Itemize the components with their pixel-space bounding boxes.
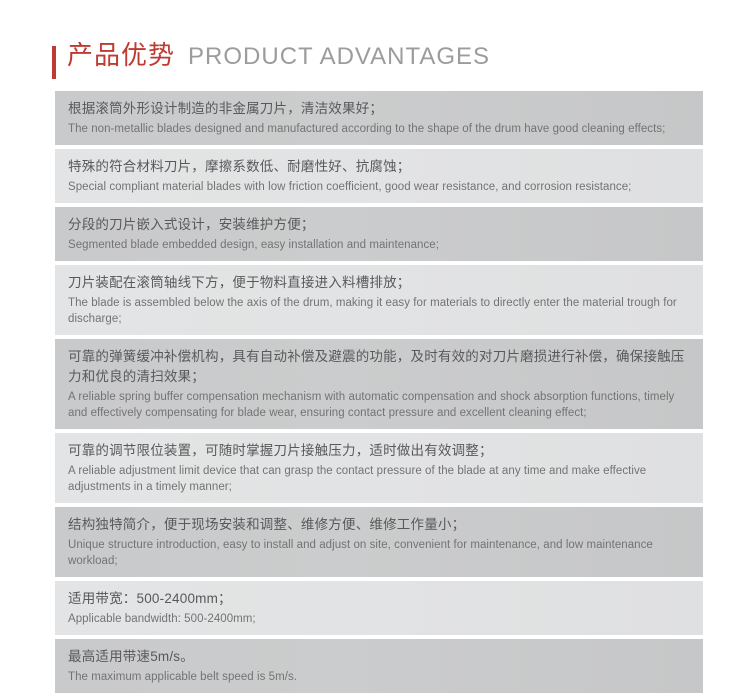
advantage-text-english: A reliable spring buffer compensation me… (68, 389, 689, 421)
advantage-row: 可靠的调节限位装置，可随时掌握刀片接触压力，适时做出有效调整；A reliabl… (55, 433, 703, 503)
page-title-chinese: 产品优势 (67, 40, 175, 70)
advantage-row: 可靠的弹簧缓冲补偿机构，具有自动补偿及避震的功能，及时有效的对刀片磨损进行补偿，… (55, 339, 703, 429)
advantage-row: 分段的刀片嵌入式设计，安装维护方便；Segmented blade embedd… (55, 207, 703, 261)
advantage-row: 特殊的符合材料刀片，摩擦系数低、耐磨性好、抗腐蚀；Special complia… (55, 149, 703, 203)
advantage-text-english: Segmented blade embedded design, easy in… (68, 237, 689, 253)
advantage-text-chinese: 结构独特简介，便于现场安装和调整、维修方便、维修工作量小； (68, 515, 689, 535)
advantage-text-chinese: 根据滚筒外形设计制造的非金属刀片，清洁效果好； (68, 99, 689, 119)
advantage-row: 刀片装配在滚筒轴线下方，便于物料直接进入料槽排放；The blade is as… (55, 265, 703, 335)
page-header: 产品优势 PRODUCT ADVANTAGES (52, 40, 490, 82)
advantage-text-english: Unique structure introduction, easy to i… (68, 537, 689, 569)
advantage-text-chinese: 特殊的符合材料刀片，摩擦系数低、耐磨性好、抗腐蚀； (68, 157, 689, 177)
advantages-list: 根据滚筒外形设计制造的非金属刀片，清洁效果好；The non-metallic … (55, 91, 703, 697)
advantage-text-chinese: 最高适用带速5m/s。 (68, 647, 689, 667)
page-title-english: PRODUCT ADVANTAGES (188, 43, 490, 71)
advantage-row: 适用带宽：500-2400mm；Applicable bandwidth: 50… (55, 581, 703, 635)
advantage-text-english: The maximum applicable belt speed is 5m/… (68, 669, 689, 685)
product-advantages-page: 产品优势 PRODUCT ADVANTAGES 根据滚筒外形设计制造的非金属刀片… (0, 0, 737, 566)
advantage-text-chinese: 刀片装配在滚筒轴线下方，便于物料直接进入料槽排放； (68, 273, 689, 293)
advantage-text-english: A reliable adjustment limit device that … (68, 463, 689, 495)
advantage-row: 结构独特简介，便于现场安装和调整、维修方便、维修工作量小；Unique stru… (55, 507, 703, 577)
advantage-text-chinese: 可靠的调节限位装置，可随时掌握刀片接触压力，适时做出有效调整； (68, 441, 689, 461)
advantage-text-chinese: 适用带宽：500-2400mm； (68, 589, 689, 609)
advantage-text-english: The blade is assembled below the axis of… (68, 295, 689, 327)
advantage-text-english: Applicable bandwidth: 500-2400mm; (68, 611, 689, 627)
red-accent-bar-icon (52, 46, 56, 79)
advantage-row: 最高适用带速5m/s。The maximum applicable belt s… (55, 639, 703, 693)
advantage-text-english: Special compliant material blades with l… (68, 179, 689, 195)
advantage-text-chinese: 可靠的弹簧缓冲补偿机构，具有自动补偿及避震的功能，及时有效的对刀片磨损进行补偿，… (68, 347, 689, 387)
advantage-text-english: The non-metallic blades designed and man… (68, 121, 689, 137)
advantage-text-chinese: 分段的刀片嵌入式设计，安装维护方便； (68, 215, 689, 235)
advantage-row: 根据滚筒外形设计制造的非金属刀片，清洁效果好；The non-metallic … (55, 91, 703, 145)
